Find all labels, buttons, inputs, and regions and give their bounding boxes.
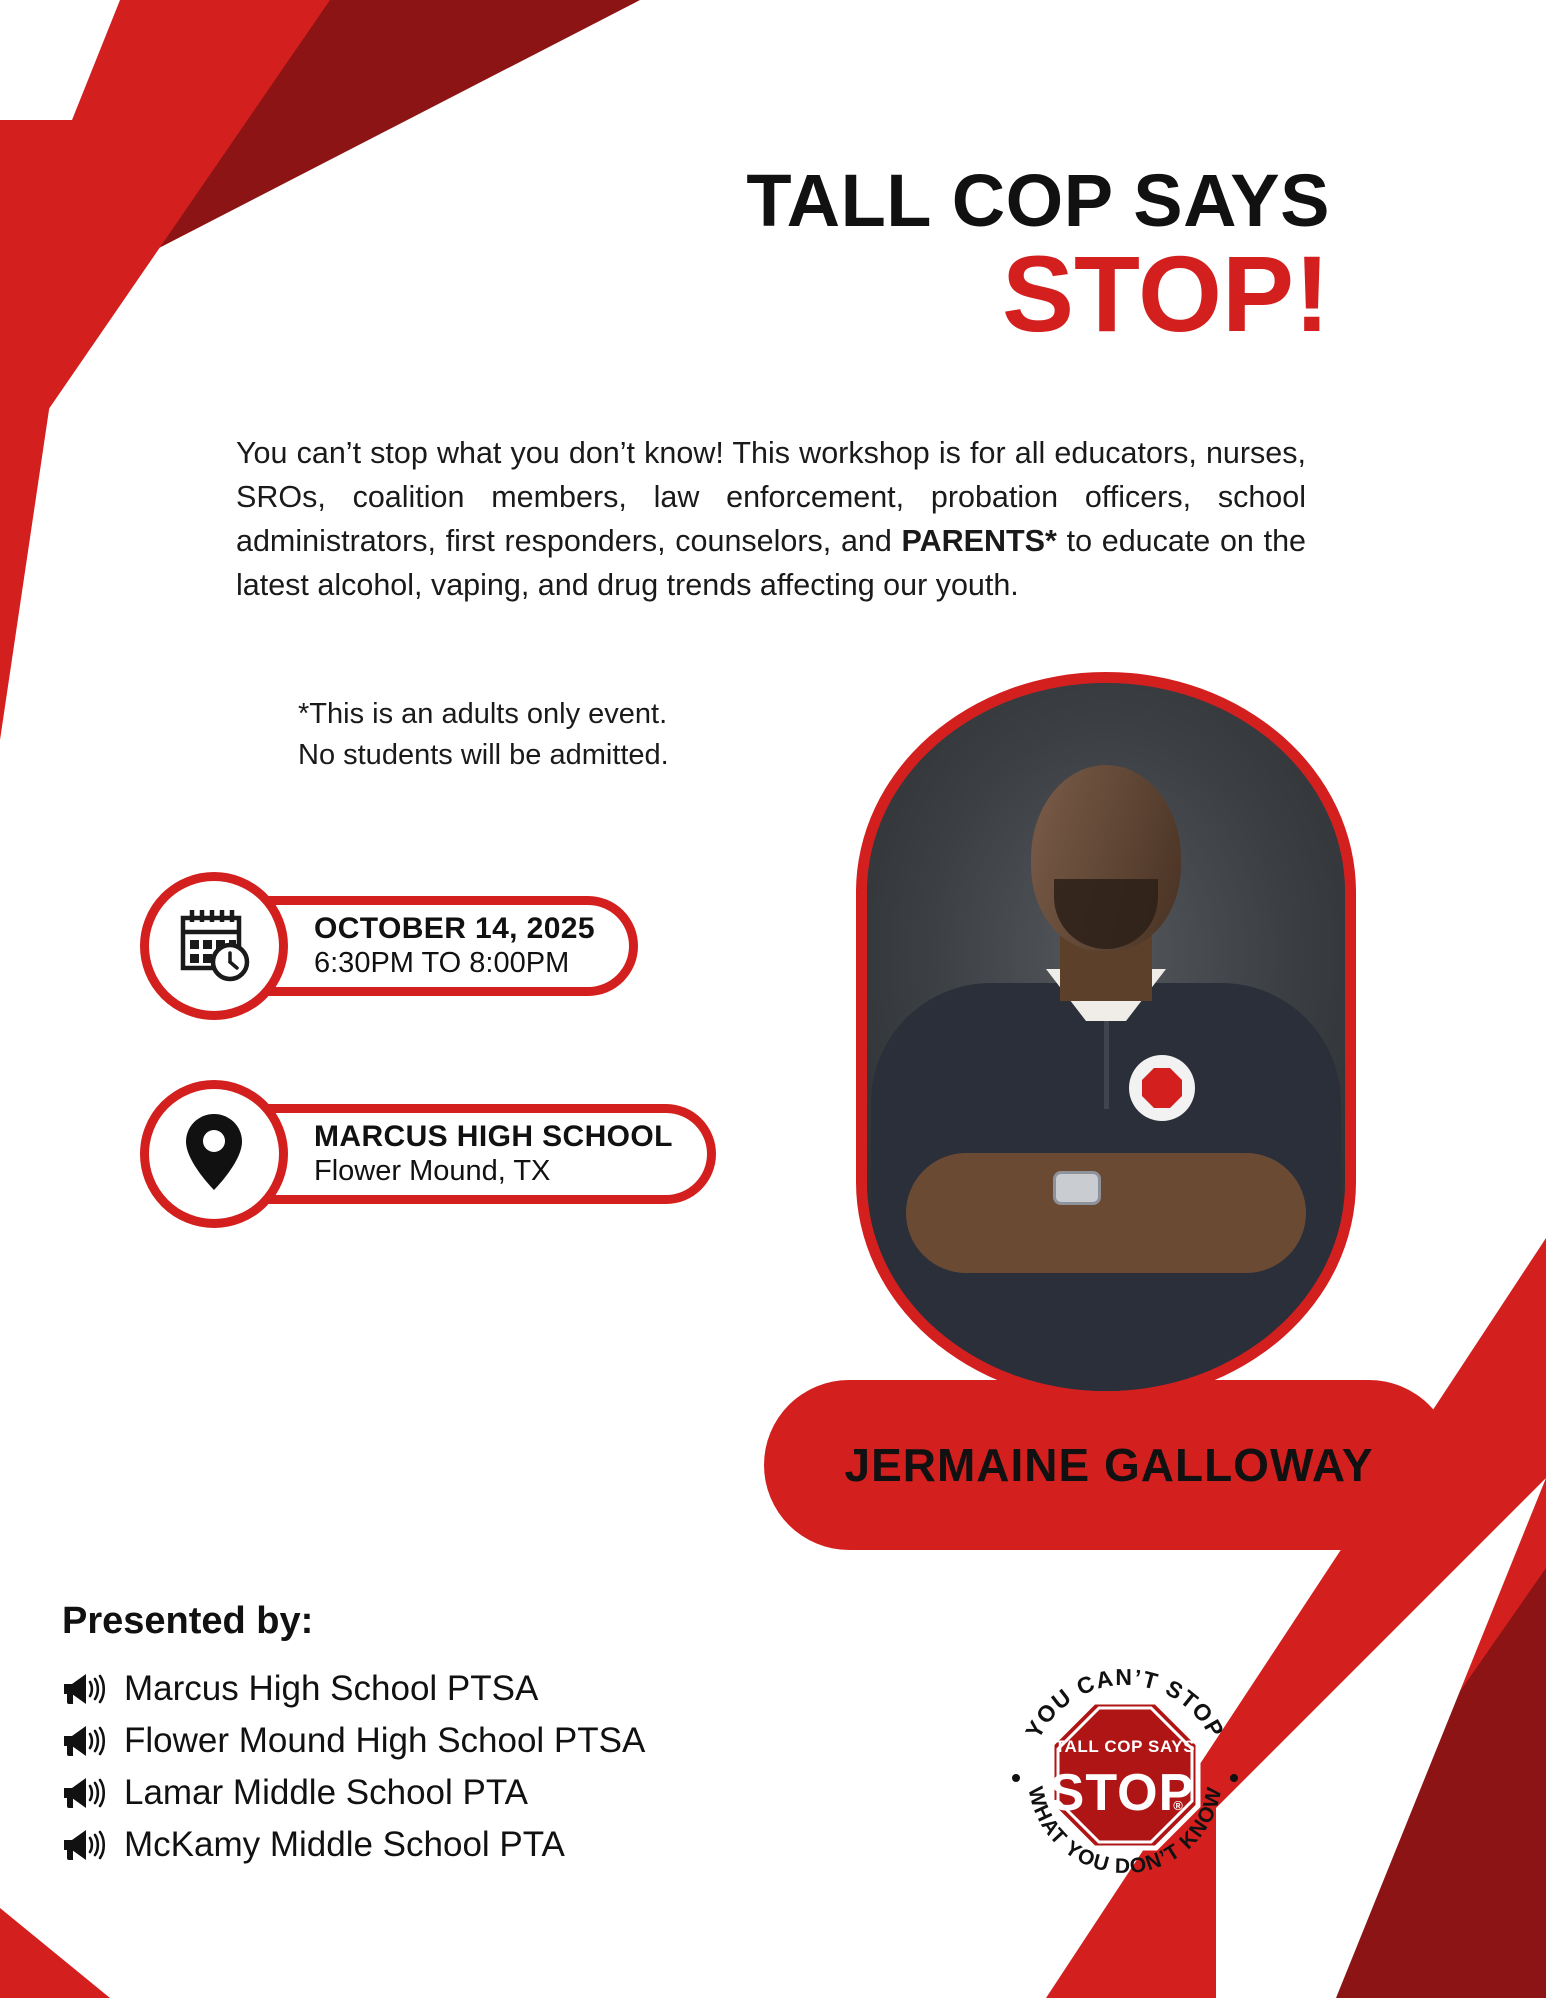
venue-name: MARCUS HIGH SCHOOL [314,1120,673,1154]
title-line-2: STOP! [200,240,1330,348]
badge-registered-mark: ® [1173,1798,1183,1813]
megaphone-icon [62,1826,108,1864]
event-time: 6:30PM TO 8:00PM [314,946,595,980]
location-text-bar: MARCUS HIGH SCHOOL Flower Mound, TX [214,1104,716,1204]
list-item: Lamar Middle School PTA [62,1773,645,1813]
speaker-name: JERMAINE GALLOWAY [844,1438,1373,1492]
event-date-pill: OCTOBER 14, 2025 6:30PM TO 8:00PM [140,872,638,1020]
description-paragraph: You can’t stop what you don’t know! This… [236,432,1306,608]
adults-only-note: *This is an adults only event. No studen… [298,694,669,776]
event-date: OCTOBER 14, 2025 [314,912,595,946]
badge-inner-top-text: TALL COP SAYS [1055,1737,1195,1756]
presented-by-title: Presented by: [62,1600,645,1643]
event-location-pill: MARCUS HIGH SCHOOL Flower Mound, TX [140,1080,716,1228]
note-line-1: *This is an adults only event. [298,694,669,735]
corner-wedge-bottom-left-red [0,1878,110,1998]
organization-name: McKamy Middle School PTA [124,1825,565,1865]
badge-inner-main-text: STOP [1050,1764,1195,1822]
megaphone-icon [62,1670,108,1708]
venue-city: Flower Mound, TX [314,1154,673,1188]
flyer-page: TALL COP SAYS STOP! You can’t stop what … [0,0,1546,1998]
speaker-name-banner: JERMAINE GALLOWAY [764,1380,1454,1550]
page-title: TALL COP SAYS STOP! [200,165,1330,348]
portrait-folded-arms [906,1153,1306,1273]
megaphone-icon [62,1774,108,1812]
organization-name: Flower Mound High School PTSA [124,1721,645,1761]
megaphone-icon [62,1722,108,1760]
location-icon-ring [140,1080,288,1228]
organization-name: Lamar Middle School PTA [124,1773,528,1813]
map-pin-icon [181,1112,247,1197]
title-line-1: TALL COP SAYS [200,165,1330,238]
organization-name: Marcus High School PTSA [124,1669,538,1709]
list-item: McKamy Middle School PTA [62,1825,645,1865]
date-icon-ring [140,872,288,1020]
portrait-shirt-logo [1129,1055,1195,1121]
tall-cop-says-stop-logo: YOU CAN’T STOP WHAT YOU DON’T KNOW TALL … [1000,1650,1250,1900]
presented-by-section: Presented by: Marcus High School PTSA [62,1600,645,1877]
list-item: Flower Mound High School PTSA [62,1721,645,1761]
speaker-portrait [856,672,1356,1402]
note-line-2: No students will be admitted. [298,735,669,776]
calendar-clock-icon [174,904,254,989]
description-emphasis: PARENTS* [902,524,1057,558]
list-item: Marcus High School PTSA [62,1669,645,1709]
portrait-wristwatch [1053,1171,1101,1205]
